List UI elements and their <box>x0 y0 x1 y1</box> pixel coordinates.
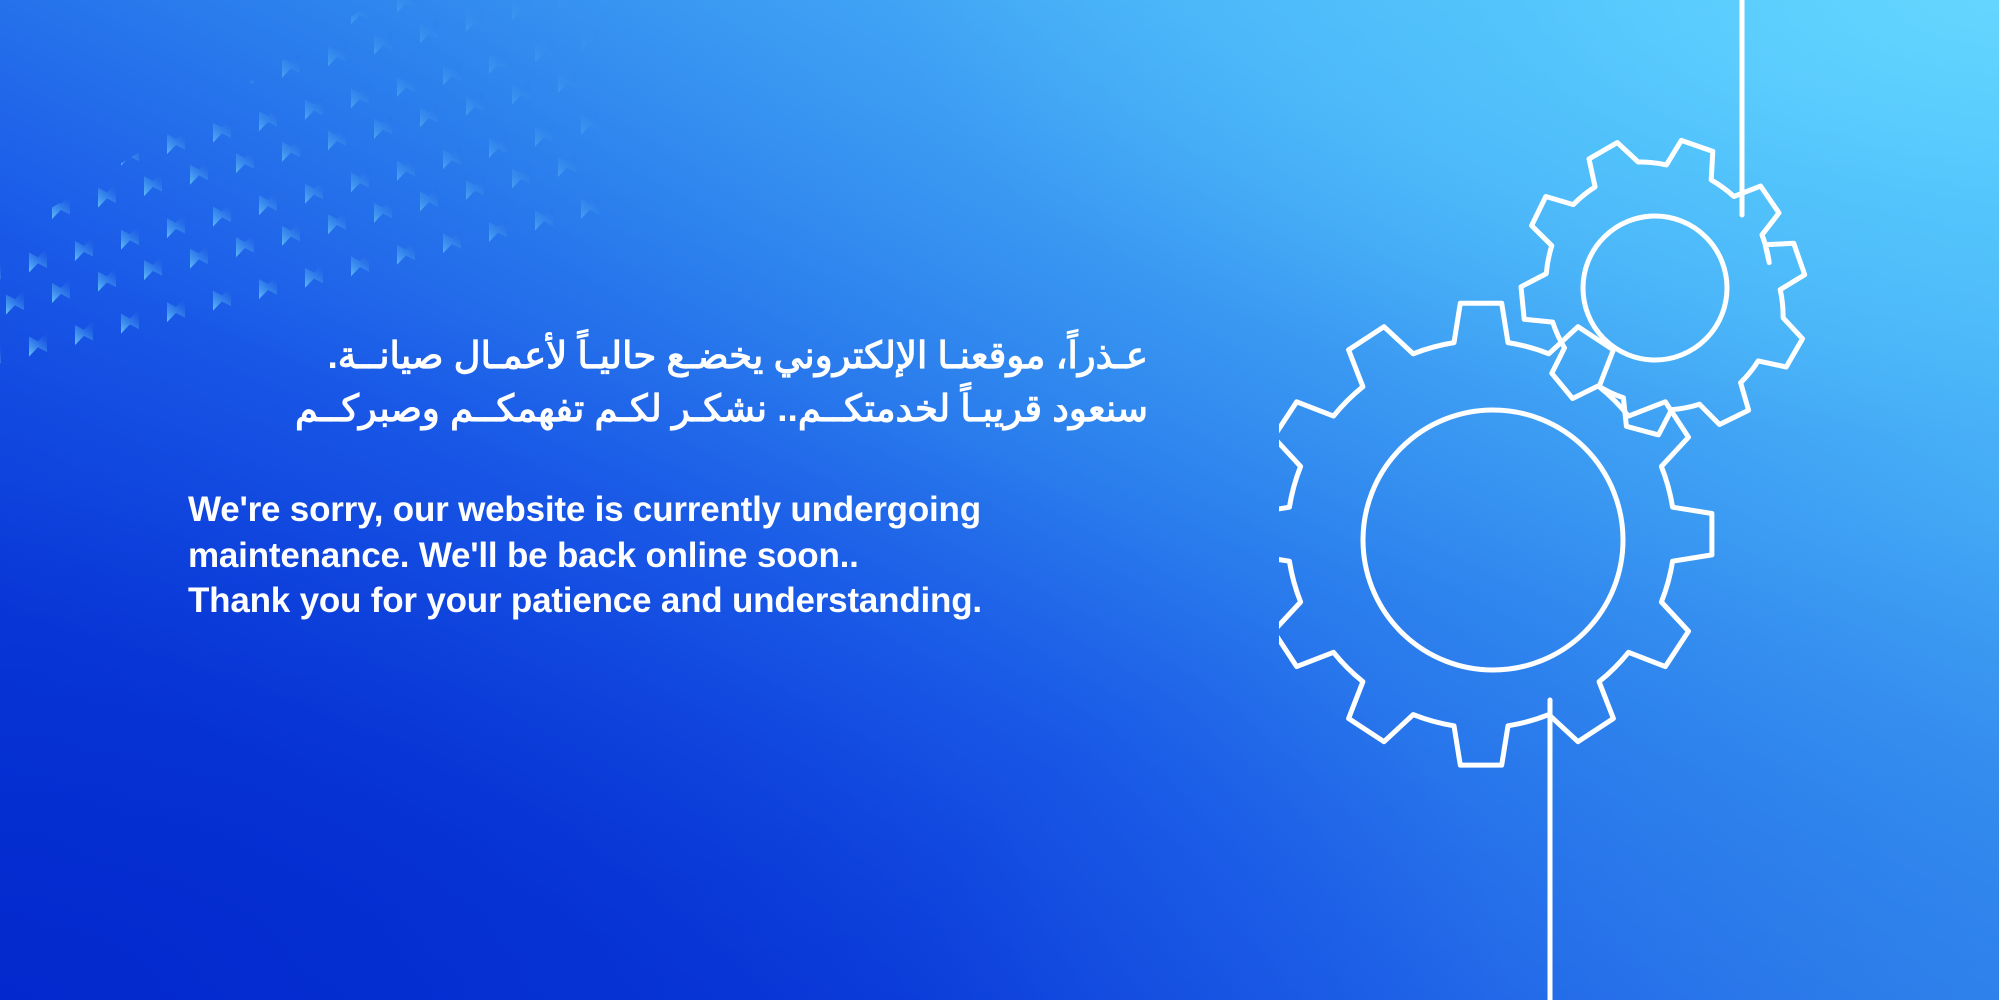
gear-illustration <box>1279 0 1999 1000</box>
arabic-line-1: عـذراً، موقعنـا الإلكتروني يخضـع حاليـاً… <box>188 330 1148 383</box>
english-line-2: maintenance. We'll be back online soon.. <box>188 533 1148 579</box>
arabic-line-2: سنعود قريبـاً لخدمتكــم.. نشكـر لكـم تفه… <box>188 383 1148 436</box>
english-message: We're sorry, our website is currently un… <box>188 435 1148 624</box>
english-line-1: We're sorry, our website is currently un… <box>188 487 1148 533</box>
maintenance-message: عـذراً، موقعنـا الإلكتروني يخضـع حاليـاً… <box>188 330 1148 624</box>
gear-small-icon <box>1521 140 1805 435</box>
gear-large-hub-icon <box>1363 410 1623 670</box>
arabic-message: عـذراً، موقعنـا الإلكتروني يخضـع حاليـاً… <box>188 330 1148 435</box>
english-line-3: Thank you for your patience and understa… <box>188 578 1148 624</box>
gear-large-icon <box>1279 303 1712 765</box>
maintenance-page: عـذراً، موقعنـا الإلكتروني يخضـع حاليـاً… <box>0 0 1999 1000</box>
gear-small-hub-icon <box>1583 216 1727 360</box>
